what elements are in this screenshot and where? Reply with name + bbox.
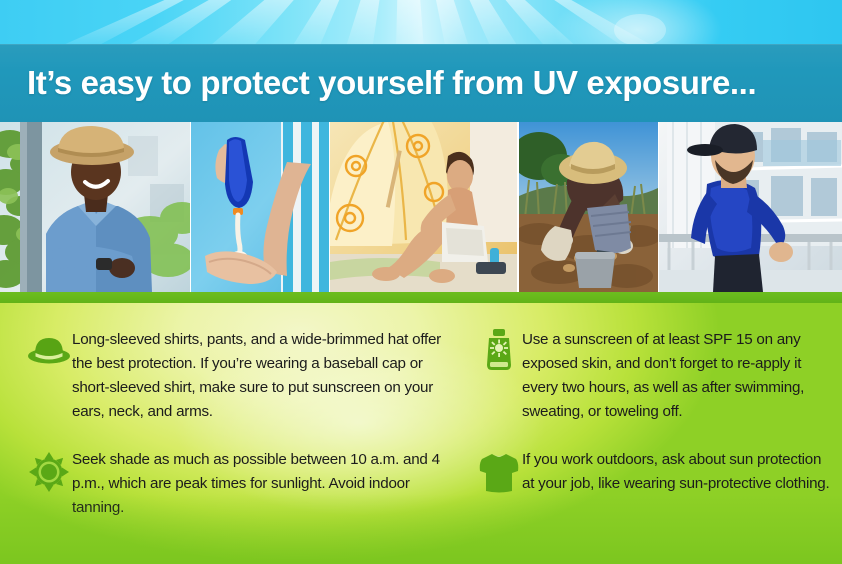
- uv-exposure-infographic: It’s easy to protect yourself from UV ex…: [0, 0, 842, 564]
- tip-text-shade: Seek shade as much as possible between 1…: [72, 448, 446, 520]
- sunscreen-tube-icon: [476, 328, 522, 373]
- photo-man-under-beach-umbrella: [330, 122, 517, 292]
- page-title: It’s easy to protect yourself from UV ex…: [27, 64, 756, 102]
- tip-item-clothing: Long-sleeved shirts, pants, and a wide-b…: [26, 328, 456, 424]
- photo-runner-in-long-sleeve-and-cap: [659, 122, 842, 292]
- tip-item-sunscreen: Use a sunscreen of at least SPF 15 on an…: [476, 328, 836, 424]
- green-divider-bar: [0, 292, 842, 303]
- tips-grid: Long-sleeved shirts, pants, and a wide-b…: [0, 303, 842, 564]
- hat-icon: [26, 328, 72, 366]
- photo-strip: [0, 122, 842, 292]
- photo-hand-squeezing-sunscreen-bottle: [191, 122, 329, 292]
- tip-text-sunscreen: Use a sunscreen of at least SPF 15 on an…: [522, 328, 836, 424]
- long-sleeve-shirt-icon: [476, 448, 522, 493]
- title-band: It’s easy to protect yourself from UV ex…: [0, 44, 842, 122]
- photo-farm-worker-in-wide-brim-hat: [519, 122, 658, 292]
- sun-icon: [26, 448, 72, 492]
- tip-text-clothing: Long-sleeved shirts, pants, and a wide-b…: [72, 328, 456, 424]
- photo-man-in-straw-hat-denim-shirt: [0, 122, 190, 292]
- tip-text-work-clothing: If you work outdoors, ask about sun prot…: [522, 448, 832, 496]
- sky-banner: [0, 0, 842, 44]
- sun-rays-decoration: [0, 0, 842, 44]
- tips-panel: Long-sleeved shirts, pants, and a wide-b…: [0, 303, 842, 564]
- tip-item-shade: Seek shade as much as possible between 1…: [26, 448, 446, 520]
- tip-item-work-clothing: If you work outdoors, ask about sun prot…: [476, 448, 832, 496]
